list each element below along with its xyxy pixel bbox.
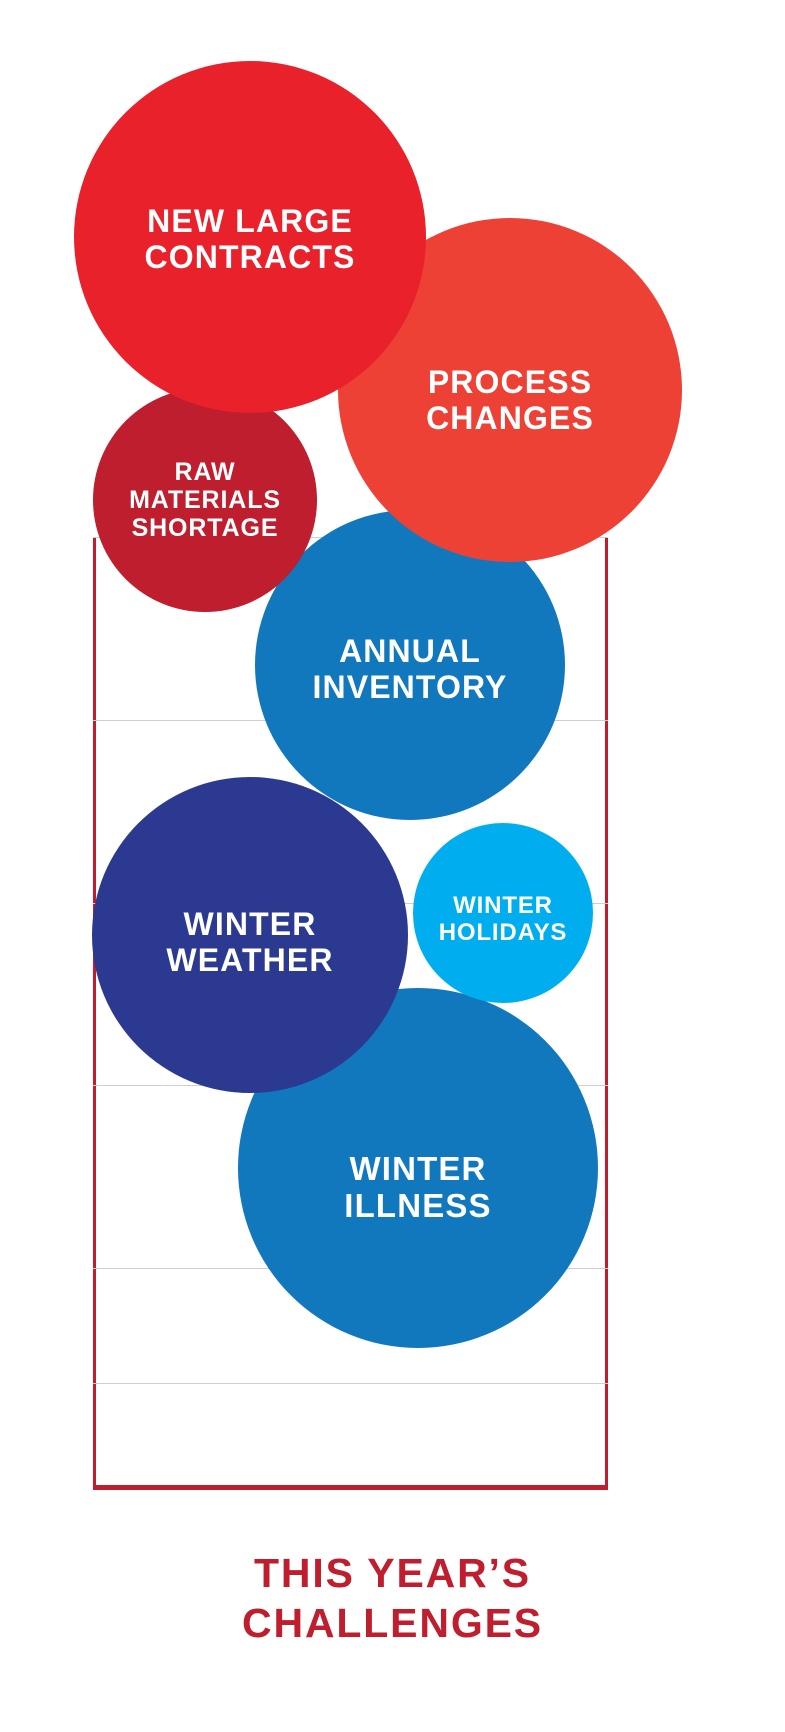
chart-title-line-1: THIS YEAR’S	[0, 1548, 785, 1598]
bubble-annual-inventory-label: ANNUAL INVENTORY	[306, 634, 513, 706]
bubble-winter-holidays-label: WINTER HOLIDAYS	[433, 893, 574, 947]
bubble-raw-materials-shortage-label: RAW MATERIALS SHORTAGE	[123, 458, 287, 542]
bubble-winter-weather-label: WINTER WEATHER	[160, 907, 339, 979]
bubble-winter-illness-label: WINTER ILLNESS	[338, 1151, 497, 1225]
bubble-winter-holidays[interactable]: WINTER HOLIDAYS	[413, 823, 593, 1003]
bubble-process-changes-label: PROCESS CHANGES	[420, 365, 600, 437]
bubble-new-large-contracts[interactable]: NEW LARGE CONTRACTS	[74, 61, 426, 413]
infographic-canvas: WINTER ILLNESS WINTER HOLIDAYS WINTER WE…	[0, 0, 785, 1732]
chart-title-line-2: CHALLENGES	[0, 1598, 785, 1648]
bubble-winter-weather[interactable]: WINTER WEATHER	[92, 777, 408, 1093]
gridline-6	[93, 1383, 608, 1384]
bubble-new-large-contracts-label: NEW LARGE CONTRACTS	[139, 204, 362, 276]
bubble-raw-materials-shortage[interactable]: RAW MATERIALS SHORTAGE	[93, 388, 317, 612]
chart-title: THIS YEAR’S CHALLENGES	[0, 1548, 785, 1648]
